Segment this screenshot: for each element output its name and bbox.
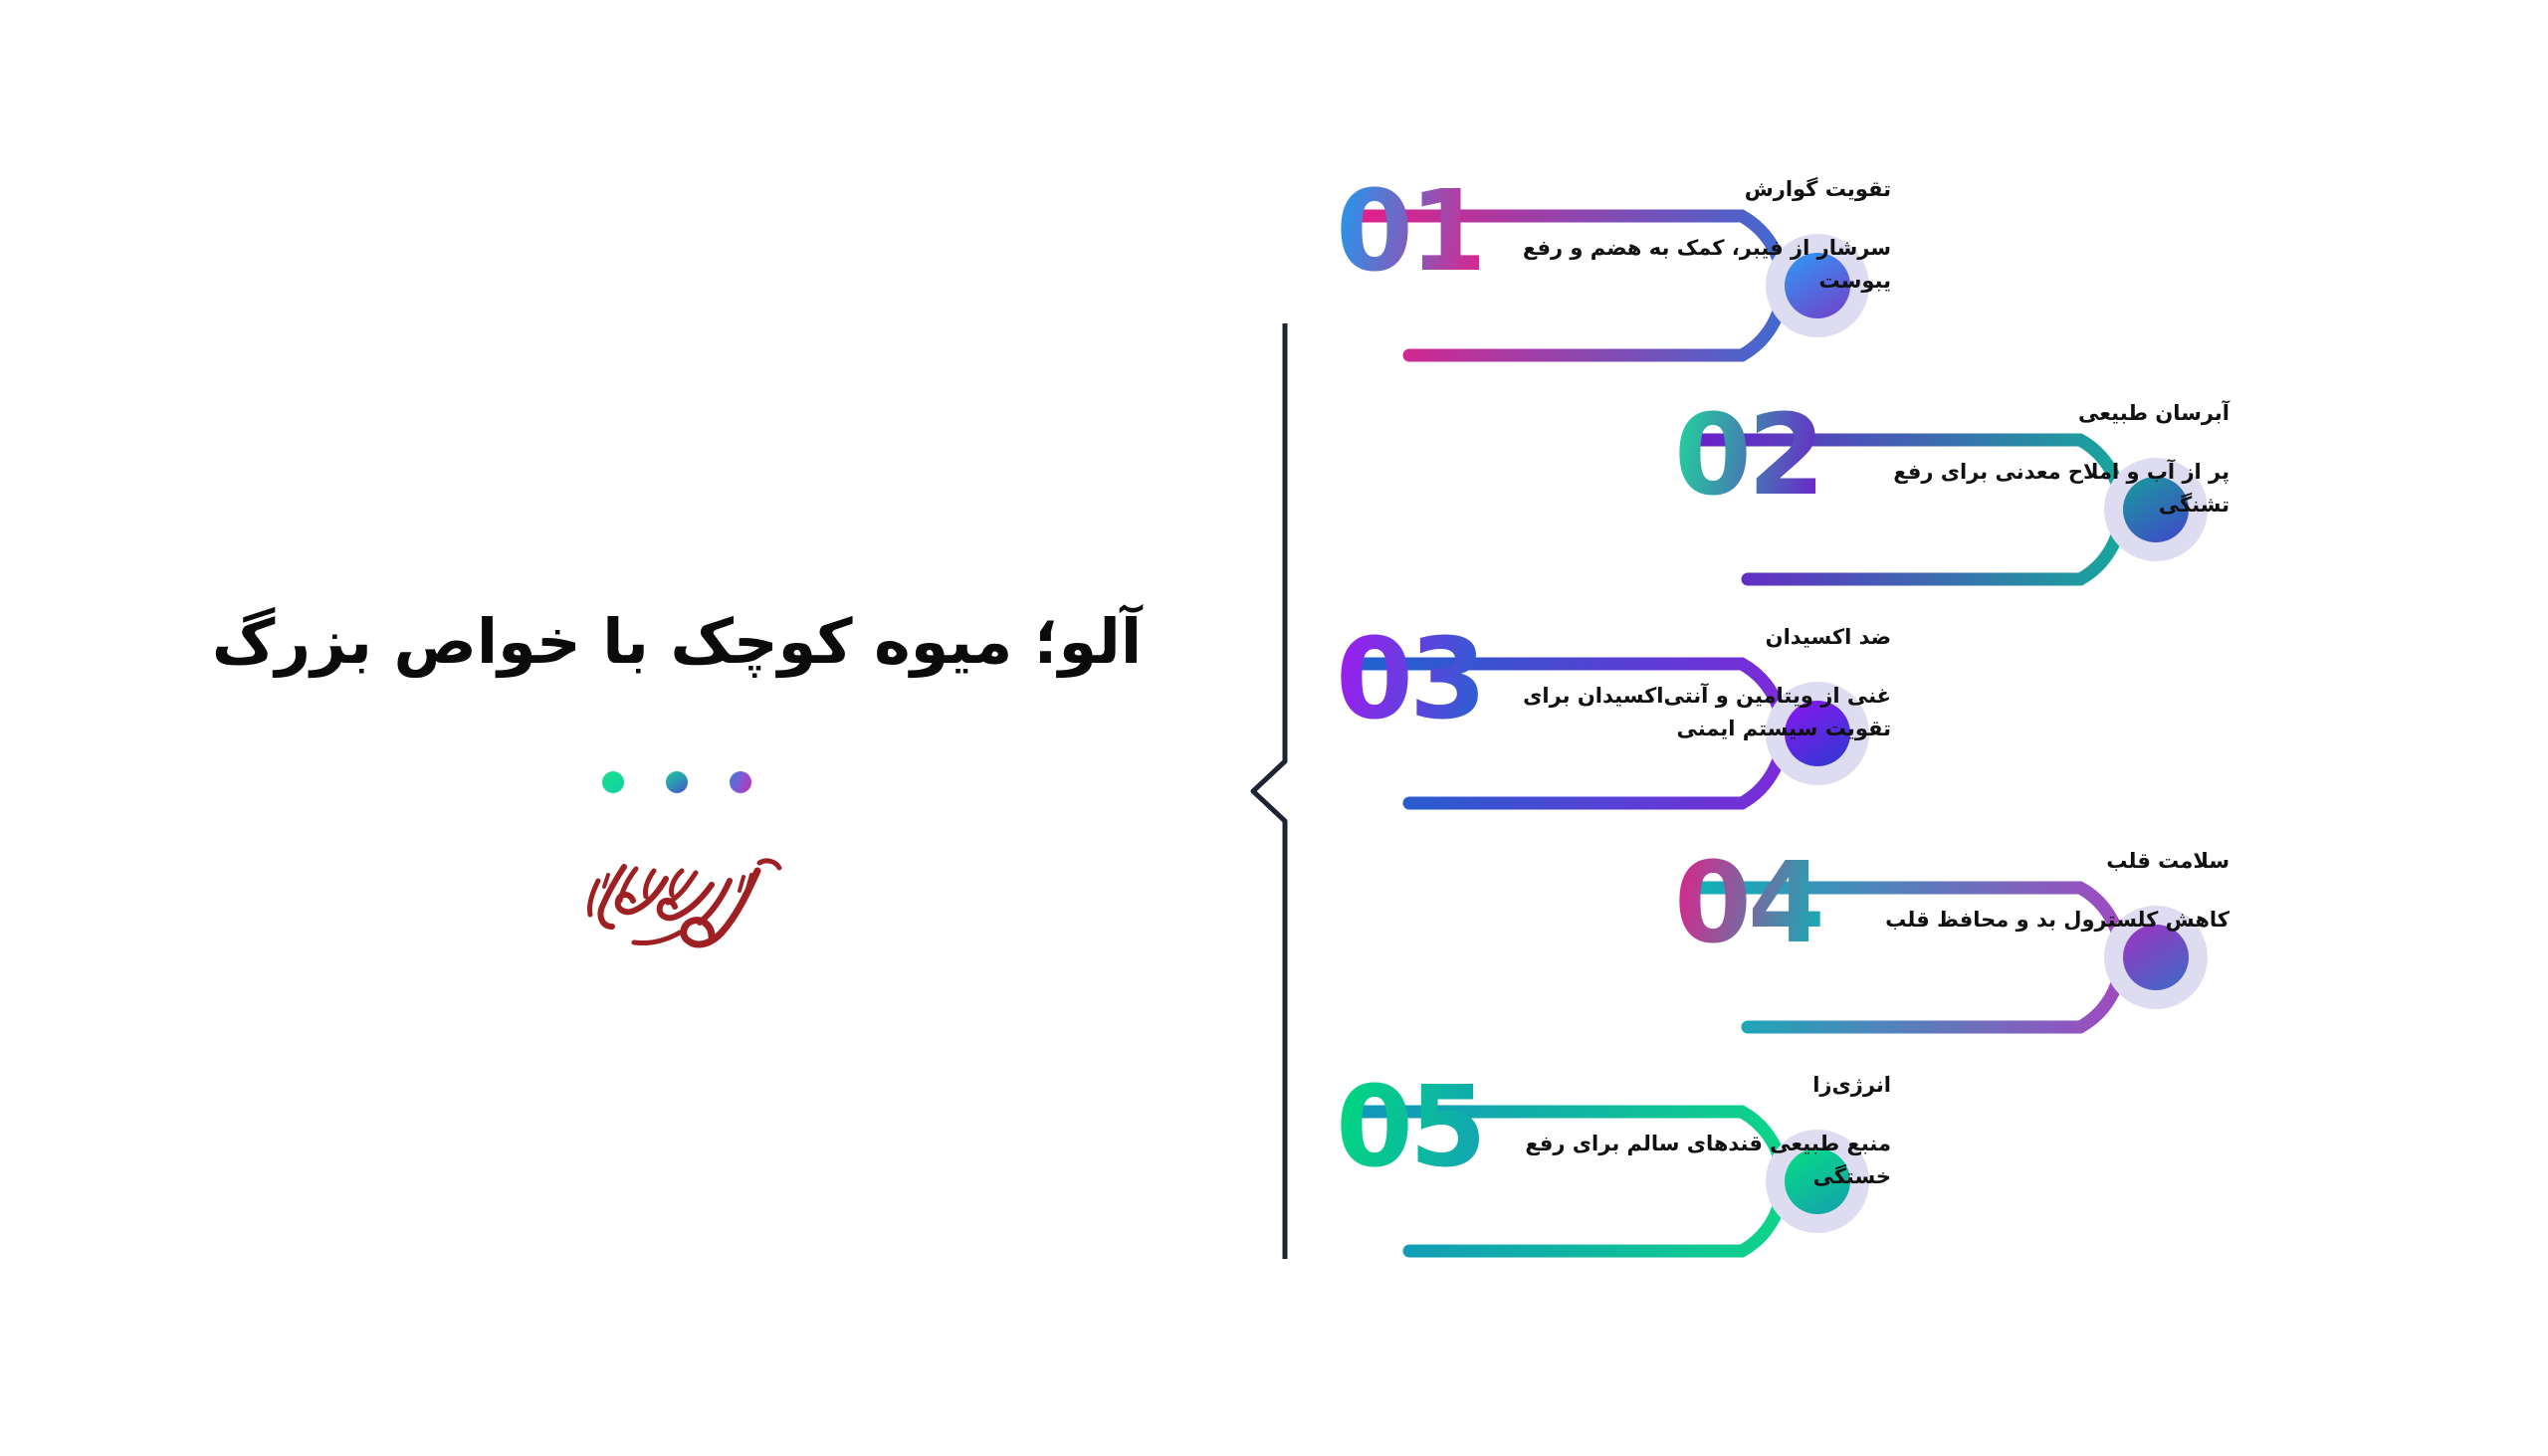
item-text-block: آبرسان طبیعی پر از آب و املاح معدنی برای… xyxy=(1831,398,2229,522)
bracket-connector xyxy=(1239,323,1299,1259)
decorative-dots xyxy=(179,771,1174,793)
item-text-block: سلامت قلب کاهش کلسترول بد و محافظ قلب xyxy=(1831,846,2229,936)
item-title: آبرسان طبیعی xyxy=(1831,398,2229,430)
benefits-list: 01 تقویت گوارش سرشار از فیبر، کمک به هضم… xyxy=(1324,0,2548,1456)
item-description: منبع طبیعی قندهای سالم برای رفع خستگی xyxy=(1493,1128,1891,1194)
item-title: سلامت قلب xyxy=(1831,846,2229,878)
item-text-block: ضد اکسیدان غنی از ویتامین و آنتی‌اکسیدان… xyxy=(1493,622,1891,746)
list-item[interactable]: 05 انرژی‌زا منبع طبیعی قندهای سالم برای … xyxy=(1324,1020,1941,1259)
item-number: 05 xyxy=(1336,1072,1483,1183)
title-panel: آلو؛ میوه کوچک با خواص بزرگ xyxy=(0,0,1174,1456)
item-number: 02 xyxy=(1674,400,1821,512)
brand-logo: آجیل حاج رضا و پسران xyxy=(179,841,1174,960)
list-item[interactable]: 01 تقویت گوارش سرشار از فیبر، کمک به هضم… xyxy=(1324,124,1941,363)
item-title: تقویت گوارش xyxy=(1493,174,1891,206)
list-item[interactable]: 04 سلامت قلب کاهش کلسترول بد و محافظ قلب xyxy=(1662,796,2279,1035)
list-item[interactable]: 02 آبرسان طبیعی پر از آب و املاح معدنی ب… xyxy=(1662,348,2279,587)
item-description: غنی از ویتامین و آنتی‌اکسیدان برای تقویت… xyxy=(1493,680,1891,746)
item-title: انرژی‌زا xyxy=(1493,1070,1891,1102)
page-title: آلو؛ میوه کوچک با خواص بزرگ xyxy=(179,597,1174,687)
item-description: کاهش کلسترول بد و محافظ قلب xyxy=(1831,904,2229,937)
dot-purple-icon xyxy=(730,771,751,793)
item-description: پر از آب و املاح معدنی برای رفع تشنگی xyxy=(1831,456,2229,522)
item-description: سرشار از فیبر، کمک به هضم و رفع یبوست xyxy=(1493,232,1891,299)
slide-canvas: آلو؛ میوه کوچک با خواص بزرگ xyxy=(0,0,2548,1456)
item-number: 04 xyxy=(1674,848,1821,959)
dot-green-icon xyxy=(602,771,624,793)
item-number: 01 xyxy=(1336,176,1483,288)
item-number: 03 xyxy=(1336,624,1483,735)
dot-teal-icon xyxy=(666,771,688,793)
item-text-block: انرژی‌زا منبع طبیعی قندهای سالم برای رفع… xyxy=(1493,1070,1891,1194)
list-item[interactable]: 03 ضد اکسیدان غنی از ویتامین و آنتی‌اکسی… xyxy=(1324,572,1941,811)
item-title: ضد اکسیدان xyxy=(1493,622,1891,654)
item-text-block: تقویت گوارش سرشار از فیبر، کمک به هضم و … xyxy=(1493,174,1891,299)
